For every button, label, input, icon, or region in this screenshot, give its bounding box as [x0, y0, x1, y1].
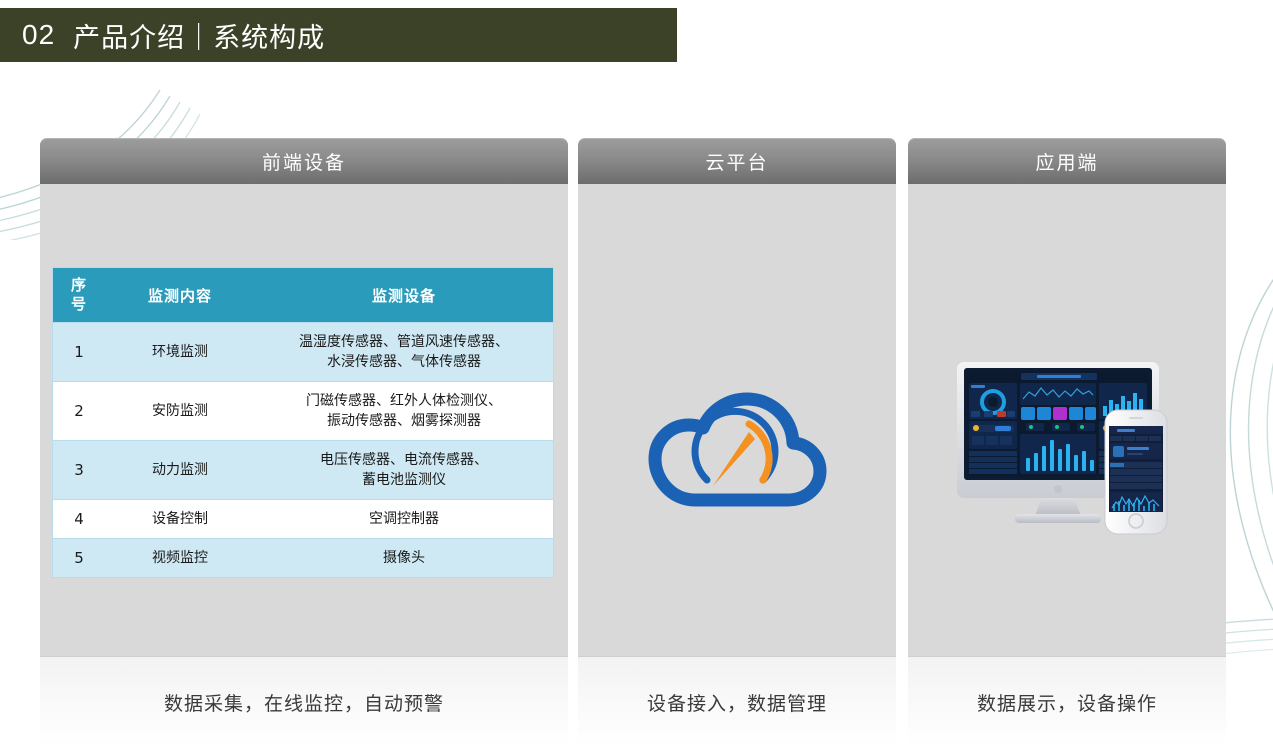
panel-front-end-caption-area: 数据采集，在线监控，自动预警	[40, 657, 568, 747]
cell-item: 设备控制	[105, 500, 255, 539]
panel-front-end-header: 前端设备	[40, 138, 568, 184]
panel-application: 应用端	[908, 138, 1226, 747]
cell-no: 3	[53, 441, 105, 500]
table-row: 5 视频监控 摄像头	[53, 539, 553, 578]
panel-application-body	[908, 184, 1226, 657]
panel-application-caption: 数据展示，设备操作	[977, 689, 1157, 716]
cell-item: 动力监测	[105, 441, 255, 500]
column-header-item: 监测内容	[105, 268, 255, 323]
panel-cloud-platform-caption-area: 设备接入，数据管理	[578, 657, 896, 747]
cloud-gauge-icon	[637, 384, 837, 514]
cell-device-line1: 温湿度传感器、管道风速传感器、	[259, 332, 549, 352]
cell-no: 4	[53, 500, 105, 539]
cell-item: 安防监测	[105, 382, 255, 441]
cell-device: 温湿度传感器、管道风速传感器、 水浸传感器、气体传感器	[255, 323, 553, 382]
cell-device-line1: 电压传感器、电流传感器、	[259, 450, 549, 470]
page-title: 产品介绍｜系统构成	[73, 16, 325, 55]
cell-device-line1: 门磁传感器、红外人体检测仪、	[259, 391, 549, 411]
table-row: 3 动力监测 电压传感器、电流传感器、 蓄电池监测仪	[53, 441, 553, 500]
panel-front-end: 前端设备 序号 监测内容 监测设备 1 环境监测 温湿度传感器、管道风速传感器、…	[40, 138, 568, 747]
column-header-no: 序号	[53, 268, 105, 323]
table-row: 2 安防监测 门磁传感器、红外人体检测仪、 振动传感器、烟雾探测器	[53, 382, 553, 441]
panel-cloud-platform: 云平台 设备接入，数据管理	[578, 138, 896, 747]
cell-device: 门磁传感器、红外人体检测仪、 振动传感器、烟雾探测器	[255, 382, 553, 441]
panel-cloud-platform-caption: 设备接入，数据管理	[647, 689, 827, 716]
cell-device-line2: 振动传感器、烟雾探测器	[259, 411, 549, 431]
cell-device-line2: 蓄电池监测仪	[259, 470, 549, 490]
cell-no: 2	[53, 382, 105, 441]
panel-front-end-body: 序号 监测内容 监测设备 1 环境监测 温湿度传感器、管道风速传感器、 水浸传感…	[40, 184, 568, 657]
cell-device: 电压传感器、电流传感器、 蓄电池监测仪	[255, 441, 553, 500]
cell-device-line2: 水浸传感器、气体传感器	[259, 352, 549, 372]
panel-cloud-platform-header: 云平台	[578, 138, 896, 184]
panel-cloud-platform-body	[578, 184, 896, 657]
table-row: 4 设备控制 空调控制器	[53, 500, 553, 539]
cell-item: 视频监控	[105, 539, 255, 578]
slide-title-bar: 02 产品介绍｜系统构成	[0, 8, 677, 62]
monitoring-table: 序号 监测内容 监测设备 1 环境监测 温湿度传感器、管道风速传感器、 水浸传感…	[53, 268, 553, 577]
cell-device: 摄像头	[255, 539, 553, 578]
panel-front-end-title: 前端设备	[262, 148, 346, 175]
panel-application-caption-area: 数据展示，设备操作	[908, 657, 1226, 747]
monitor-and-phone-dashboard-icon	[947, 354, 1187, 554]
cell-no: 1	[53, 323, 105, 382]
panel-application-header: 应用端	[908, 138, 1226, 184]
table-header-row: 序号 监测内容 监测设备	[53, 268, 553, 323]
panel-cloud-platform-title: 云平台	[705, 148, 768, 175]
cell-device: 空调控制器	[255, 500, 553, 539]
cell-no: 5	[53, 539, 105, 578]
column-header-device: 监测设备	[255, 268, 553, 323]
panel-front-end-caption: 数据采集，在线监控，自动预警	[164, 689, 444, 716]
panel-application-title: 应用端	[1035, 148, 1098, 175]
table-row: 1 环境监测 温湿度传感器、管道风速传感器、 水浸传感器、气体传感器	[53, 323, 553, 382]
cell-item: 环境监测	[105, 323, 255, 382]
slide-number: 02	[22, 19, 55, 51]
